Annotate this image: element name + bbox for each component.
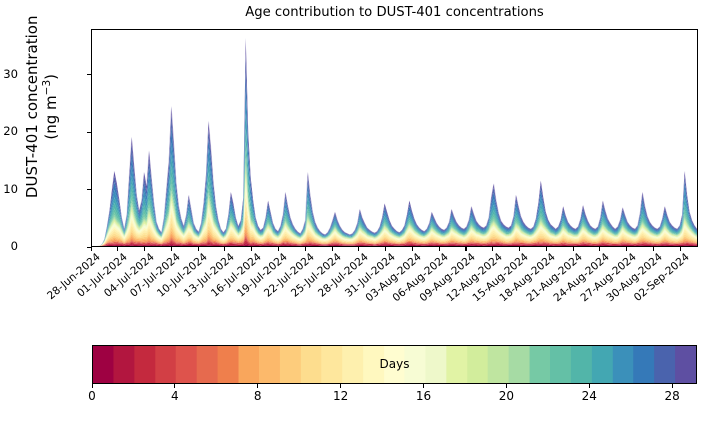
colorbar-tick-mark — [92, 384, 93, 388]
figure: Age contribution to DUST-401 concentrati… — [0, 0, 721, 425]
colorbar-tick-label: 8 — [238, 389, 278, 403]
x-tick-mark — [465, 247, 466, 251]
colorbar-tick-label: 4 — [155, 389, 195, 403]
colorbar-tick-label: 0 — [72, 389, 112, 403]
colorbar-tick-mark — [423, 384, 424, 388]
colorbar-tick-mark — [340, 384, 341, 388]
stacked-area-plot — [92, 30, 697, 246]
y-tick-label: 20 — [0, 124, 18, 138]
x-tick-mark — [599, 247, 600, 251]
y-tick-label: 10 — [0, 182, 18, 196]
x-tick-mark — [171, 247, 172, 251]
x-tick-mark — [439, 247, 440, 251]
x-tick-mark — [144, 247, 145, 251]
x-tick-mark — [546, 247, 547, 251]
colorbar-tick-label: 24 — [569, 389, 609, 403]
x-tick-mark — [653, 247, 654, 251]
y-axis-label-units: (ng m−3) — [43, 74, 61, 140]
x-tick-mark — [305, 247, 306, 251]
y-tick-label: 0 — [0, 239, 18, 253]
x-tick-mark — [358, 247, 359, 251]
colorbar-tick-mark — [257, 384, 258, 388]
colorbar-tick-label: 12 — [321, 389, 361, 403]
chart-title: Age contribution to DUST-401 concentrati… — [91, 5, 698, 20]
y-axis-label-exponent: −3 — [42, 80, 54, 95]
y-axis-label-line1: DUST-401 concentration — [23, 16, 41, 199]
x-tick-mark — [198, 247, 199, 251]
colorbar-tick-label: 28 — [652, 389, 692, 403]
x-tick-mark — [385, 247, 386, 251]
colorbar-tick-label: 16 — [404, 389, 444, 403]
x-tick-mark — [251, 247, 252, 251]
plot-area — [91, 29, 698, 247]
x-tick-mark — [573, 247, 574, 251]
x-tick-mark — [117, 247, 118, 251]
x-tick-mark — [91, 247, 92, 251]
x-tick-mark — [519, 247, 520, 251]
colorbar — [92, 345, 697, 384]
colorbar-gradient — [93, 346, 696, 383]
colorbar-tick-mark — [589, 384, 590, 388]
colorbar-tick-mark — [672, 384, 673, 388]
x-tick-mark — [680, 247, 681, 251]
colorbar-tick-mark — [506, 384, 507, 388]
y-tick-label: 30 — [0, 67, 18, 81]
x-tick-mark — [278, 247, 279, 251]
x-tick-mark — [224, 247, 225, 251]
x-tick-mark — [626, 247, 627, 251]
x-tick-mark — [492, 247, 493, 251]
x-tick-mark — [332, 247, 333, 251]
colorbar-tick-label: 20 — [486, 389, 526, 403]
colorbar-tick-mark — [174, 384, 175, 388]
x-tick-mark — [412, 247, 413, 251]
y-axis-label: DUST-401 concentration (ng m−3) — [23, 0, 61, 227]
